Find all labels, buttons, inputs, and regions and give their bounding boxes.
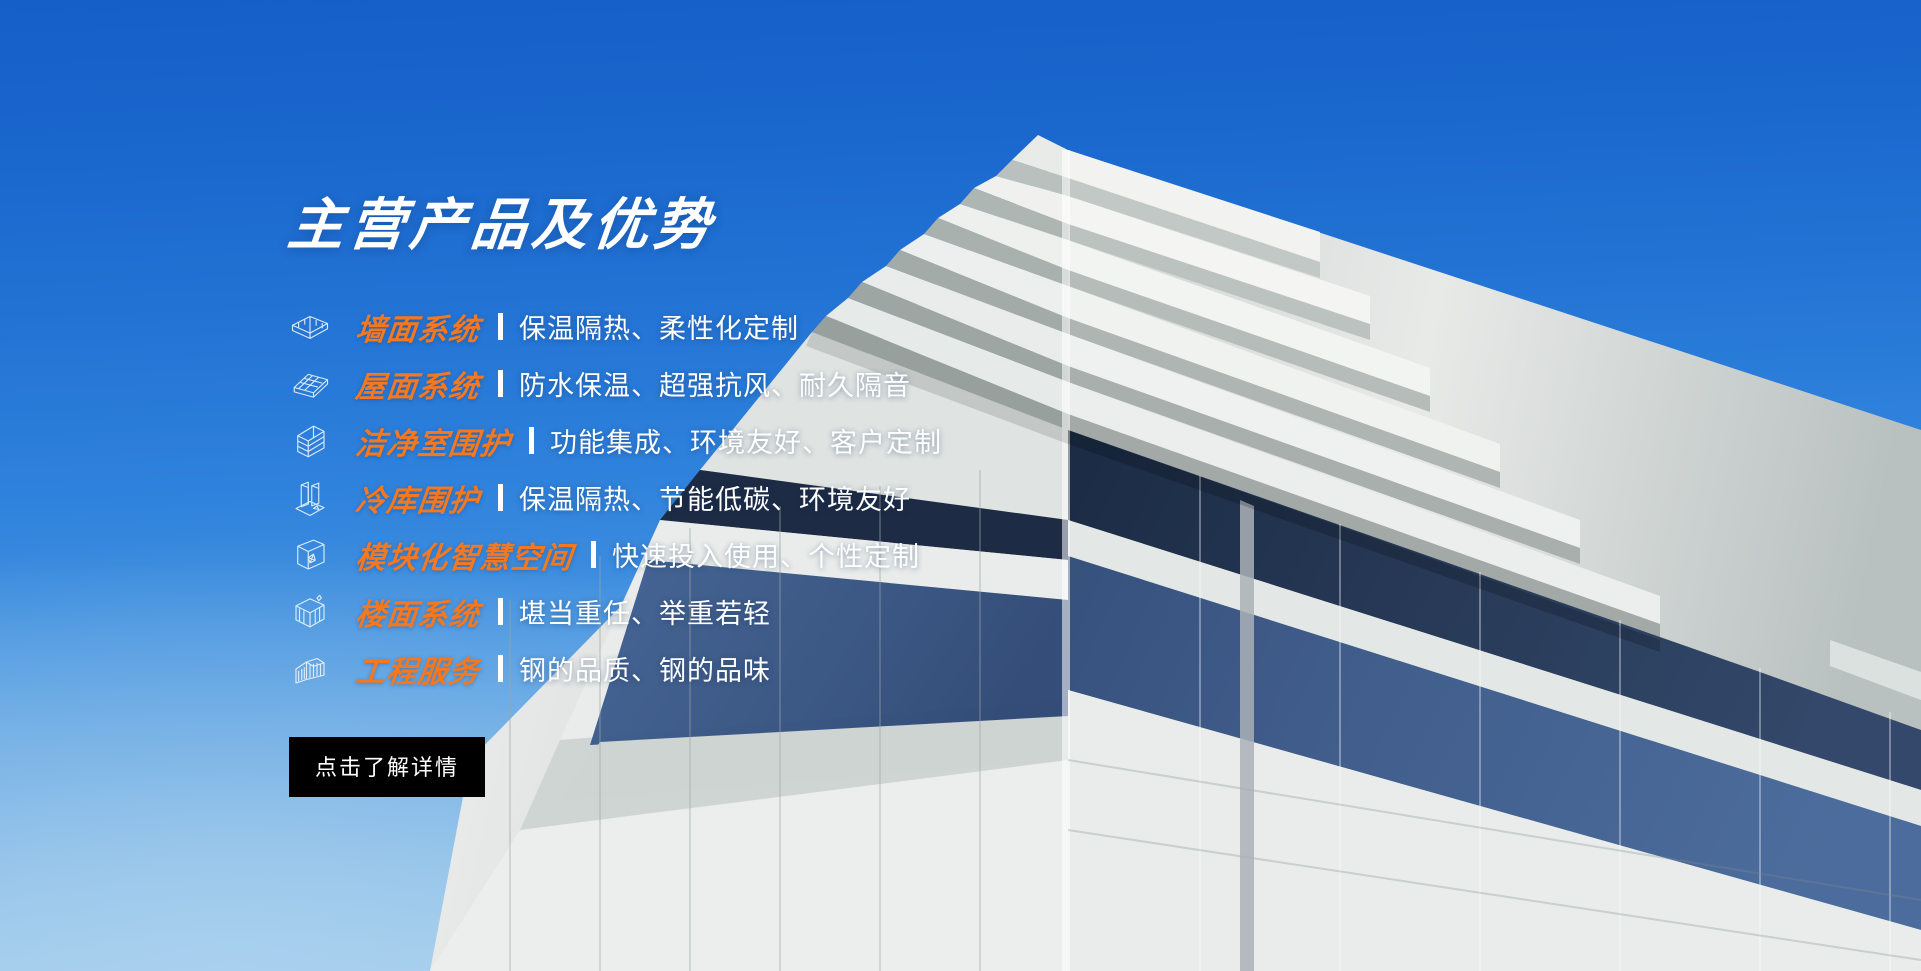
list-item[interactable]: 屋面系统 防水保温、超强抗风、耐久隔音 xyxy=(288,355,1288,412)
list-item[interactable]: 楼面系统 堪当重任、举重若轻 xyxy=(288,583,1288,640)
cleanroom-building-icon xyxy=(288,419,332,463)
product-description: 防水保温、超强抗风、耐久隔音 xyxy=(519,364,911,403)
hero-content: 主营产品及优势 墙面系统 保温隔热、柔性化定制 xyxy=(288,198,1288,797)
list-item[interactable]: 洁净室围护 功能集成、环境友好、客户定制 xyxy=(288,412,1288,469)
separator-bar xyxy=(498,370,503,397)
learn-more-button[interactable]: 点击了解详情 xyxy=(289,737,485,797)
product-category: 屋面系统 xyxy=(354,362,483,406)
page-title: 主营产品及优势 xyxy=(285,198,1291,254)
wall-panel-icon xyxy=(288,305,332,349)
cold-storage-icon xyxy=(288,476,332,520)
roof-panel-icon xyxy=(288,362,332,406)
product-description: 保温隔热、柔性化定制 xyxy=(519,307,799,346)
separator-bar xyxy=(498,313,503,340)
engineering-service-icon xyxy=(288,647,332,691)
product-category: 楼面系统 xyxy=(354,590,483,634)
hero-banner: 主营产品及优势 墙面系统 保温隔热、柔性化定制 xyxy=(0,0,1921,971)
list-item[interactable]: 墙面系统 保温隔热、柔性化定制 xyxy=(288,298,1288,355)
separator-bar xyxy=(529,427,534,454)
product-list: 墙面系统 保温隔热、柔性化定制 屋面系统 防水保温、超强抗风、 xyxy=(288,298,1288,697)
product-description: 快速投入使用、个性定制 xyxy=(612,535,920,574)
separator-bar xyxy=(498,655,503,682)
product-category: 模块化智慧空间 xyxy=(354,533,576,577)
separator-bar xyxy=(591,541,596,568)
product-category: 洁净室围护 xyxy=(354,419,514,463)
floor-deck-icon xyxy=(288,590,332,634)
list-item[interactable]: 冷库围护 保温隔热、节能低碳、环境友好 xyxy=(288,469,1288,526)
product-description: 功能集成、环境友好、客户定制 xyxy=(550,421,942,460)
separator-bar xyxy=(498,484,503,511)
product-description: 堪当重任、举重若轻 xyxy=(519,592,771,631)
product-category: 墙面系统 xyxy=(354,305,483,349)
list-item[interactable]: 模块化智慧空间 快速投入使用、个性定制 xyxy=(288,526,1288,583)
separator-bar xyxy=(498,598,503,625)
product-category: 冷库围护 xyxy=(354,476,483,520)
modular-cube-icon xyxy=(288,533,332,577)
product-category: 工程服务 xyxy=(354,647,483,691)
product-description: 保温隔热、节能低碳、环境友好 xyxy=(519,478,911,517)
product-description: 钢的品质、钢的品味 xyxy=(519,649,771,688)
list-item[interactable]: 工程服务 钢的品质、钢的品味 xyxy=(288,640,1288,697)
